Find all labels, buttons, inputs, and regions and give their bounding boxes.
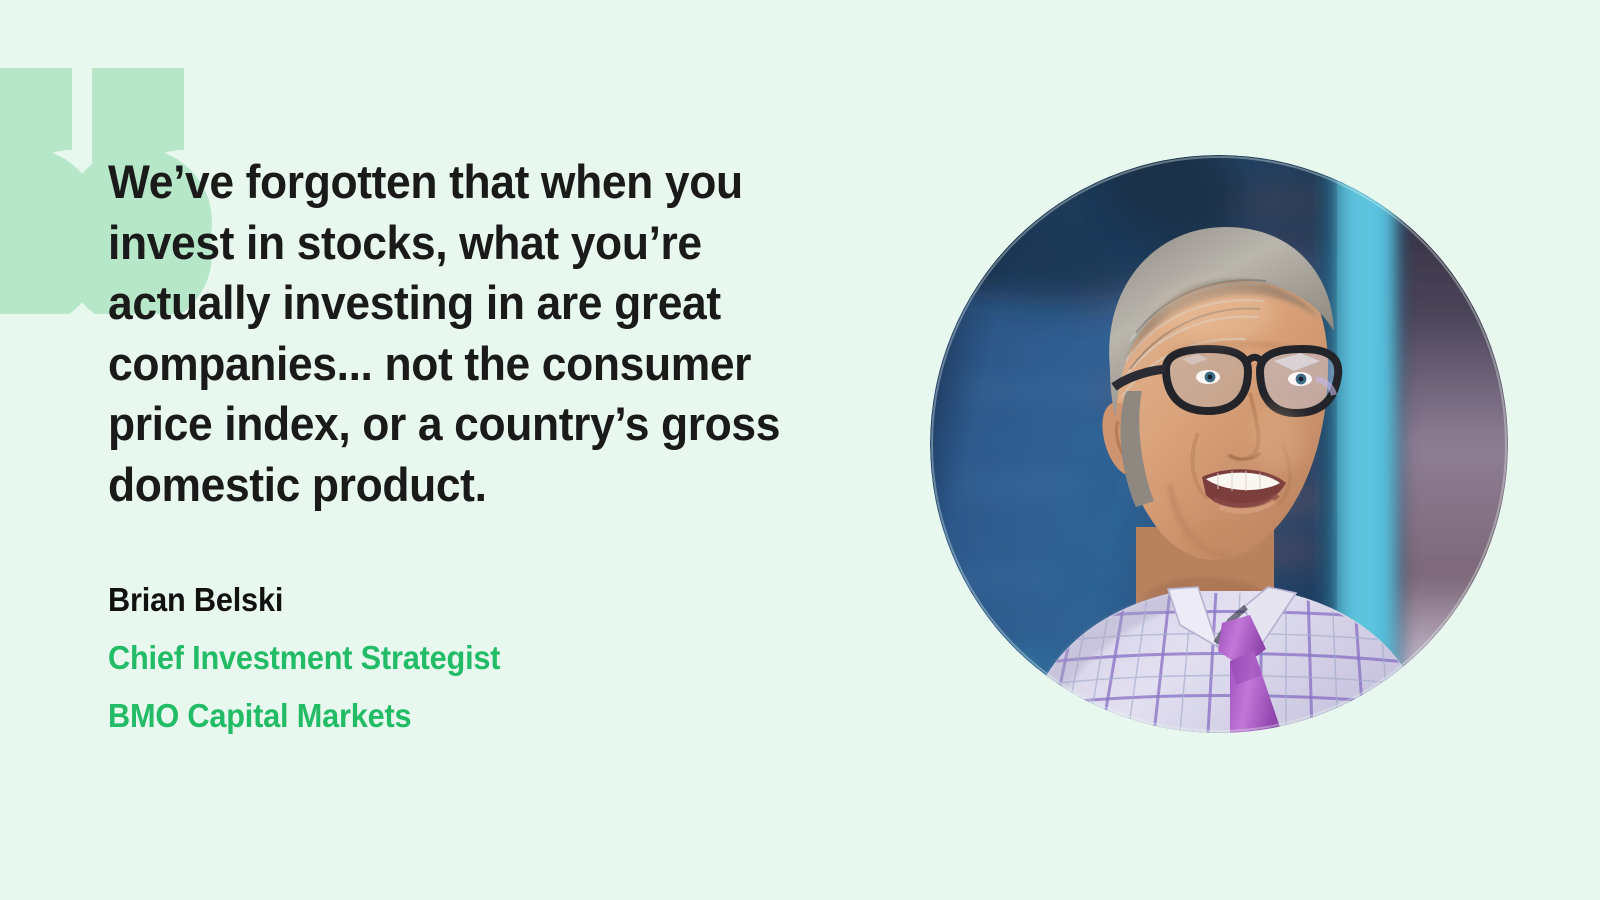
portrait-photo: [930, 155, 1508, 733]
attribution-organization: BMO Capital Markets: [108, 687, 815, 745]
attribution-name: Brian Belski: [108, 571, 815, 629]
quote-card: We’ve forgotten that when you invest in …: [0, 0, 1600, 900]
attribution-title: Chief Investment Strategist: [108, 629, 815, 687]
quote-text: We’ve forgotten that when you invest in …: [108, 152, 855, 515]
attribution-block: Brian Belski Chief Investment Strategist…: [108, 571, 868, 745]
quote-text-column: We’ve forgotten that when you invest in …: [108, 152, 898, 515]
